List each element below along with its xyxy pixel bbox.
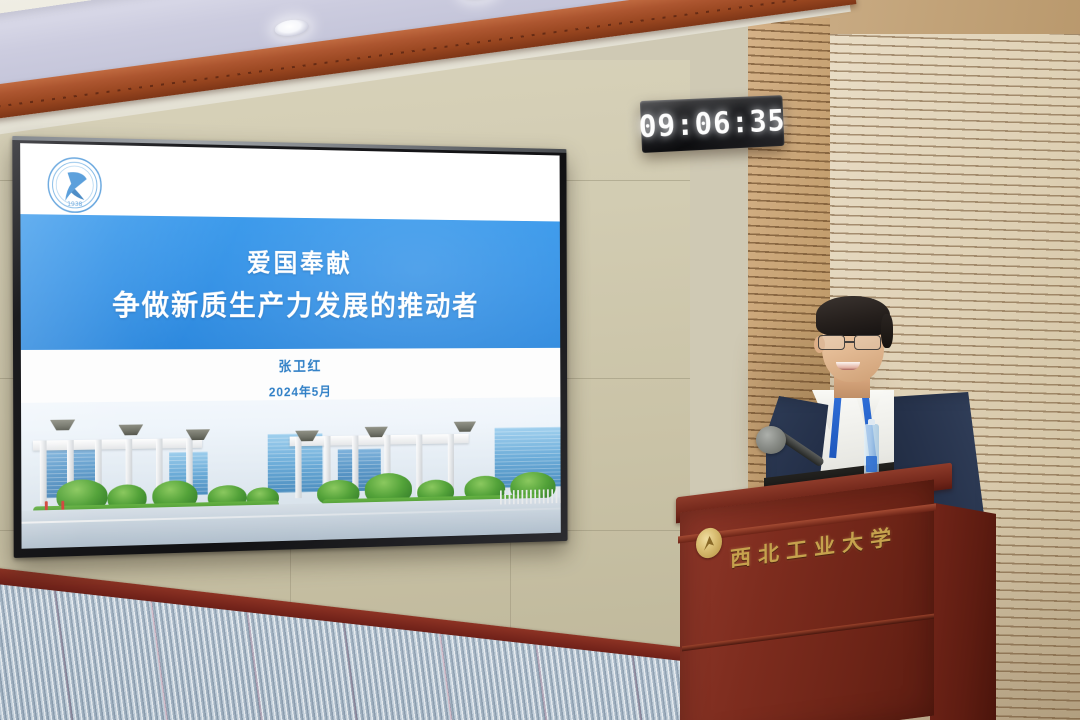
svg-text:1938: 1938	[67, 201, 82, 208]
slide-header: 1938	[20, 143, 560, 223]
slide-title-band: 爱国奉献 争做新质生产力发展的推动者	[20, 214, 560, 350]
screen-surface: 1938 爱国奉献 争做新质生产力发展的推动者 张卫红 2024年5月	[20, 143, 561, 549]
slide-meta: 张卫红 2024年5月	[21, 355, 560, 403]
downlight-icon	[273, 18, 309, 39]
conference-hall-scene: 1938 爱国奉献 争做新质生产力发展的推动者 张卫红 2024年5月	[0, 0, 1080, 720]
clock-time-display: 09:06:35	[638, 103, 786, 144]
lectern-side-panel	[930, 502, 996, 720]
slide-campus-photo	[21, 397, 561, 549]
led-presentation-screen[interactable]: 1938 爱国奉献 争做新质生产力发展的推动者 张卫红 2024年5月	[12, 136, 567, 558]
microphone-icon	[756, 426, 786, 454]
slide-title-line2: 争做新质生产力发展的推动者	[112, 282, 479, 323]
slide-title-line1: 爱国奉献	[247, 243, 353, 279]
slide-presenter-name: 张卫红	[278, 357, 322, 377]
nwpu-university-logo-icon: 1938	[44, 154, 104, 217]
downlight-icon	[460, 0, 496, 1]
slide: 1938 爱国奉献 争做新质生产力发展的推动者 张卫红 2024年5月	[20, 143, 561, 549]
eyeglasses-icon	[818, 335, 888, 350]
lectern: 西北工业大学	[668, 480, 998, 720]
slide-date: 2024年5月	[269, 382, 332, 401]
screen-bezel: 1938 爱国奉献 争做新质生产力发展的推动者 张卫红 2024年5月	[12, 136, 567, 558]
hair	[816, 296, 890, 336]
wall-digital-clock: 09:06:35	[640, 95, 785, 153]
